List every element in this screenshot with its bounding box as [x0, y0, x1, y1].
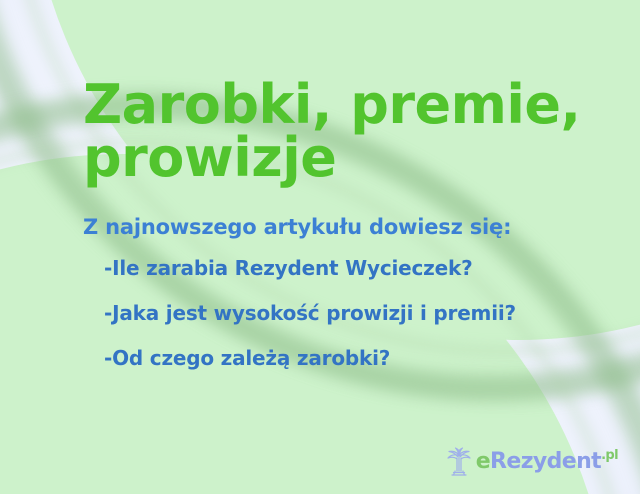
- list-item: -Ile zarabia Rezydent Wycieczek?: [104, 258, 516, 278]
- palm-tree-icon: [445, 447, 473, 477]
- headline-line-1: Zarobki, premie,: [83, 79, 583, 132]
- promo-poster: Zarobki, premie, prowizje Z najnowszego …: [0, 0, 640, 494]
- bullet-list: -Ile zarabia Rezydent Wycieczek? -Jaka j…: [104, 258, 516, 368]
- list-item: -Jaka jest wysokość prowizji i premii?: [104, 303, 516, 323]
- poster-content: Zarobki, premie, prowizje Z najnowszego …: [0, 0, 640, 494]
- headline: Zarobki, premie, prowizje: [83, 79, 583, 185]
- logo-tld: .pl: [601, 449, 618, 462]
- list-item: -Od czego zależą zarobki?: [104, 348, 516, 368]
- logo-name: Rezydent: [490, 451, 601, 473]
- erezydent-logo[interactable]: e Rezydent .pl: [445, 442, 618, 482]
- headline-line-2: prowizje: [83, 132, 583, 185]
- logo-wordmark: e Rezydent .pl: [476, 451, 618, 473]
- logo-prefix: e: [476, 451, 490, 473]
- subtitle: Z najnowszego artykułu dowiesz się:: [83, 215, 511, 239]
